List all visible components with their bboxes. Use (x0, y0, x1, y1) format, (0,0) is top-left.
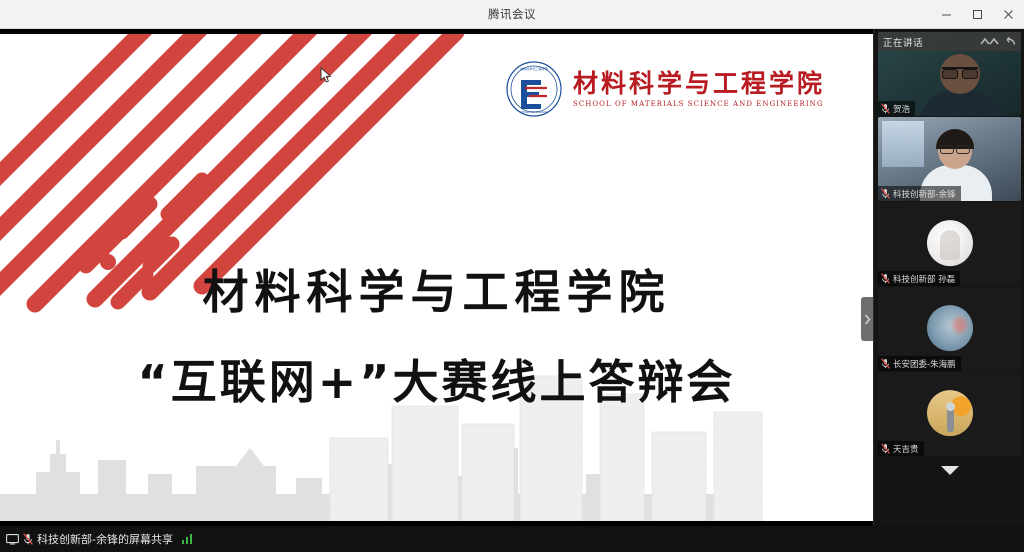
participant-name: 长安团委-朱海鹏 (893, 358, 956, 370)
participant-tile[interactable]: 科技创新部 孙磊 (878, 202, 1021, 286)
logo-english-text: SCHOOL OF MATERIALS SCIENCE AND ENGINEER… (573, 100, 825, 108)
scroll-down-button[interactable] (878, 457, 1021, 483)
minimize-icon (941, 9, 952, 20)
avatar (927, 390, 973, 436)
background-window (882, 121, 924, 167)
tencent-meeting-window: 腾讯会议 (0, 0, 1024, 552)
logo-chinese-text: 材料科学与工程学院 (573, 70, 825, 98)
window-title: 腾讯会议 (488, 6, 536, 22)
participant-nameplate: 长安团委-朱海鹏 (878, 356, 961, 371)
speaking-actions[interactable] (980, 36, 1016, 47)
college-emblem-icon: 材料科学与工程学院 MATERIALS SCIENCE (505, 60, 563, 118)
scroll-down-icon (939, 464, 961, 476)
mouse-cursor (320, 67, 332, 84)
college-logo: 材料科学与工程学院 MATERIALS SCIENCE 材料科学与工程学院 SC… (505, 60, 825, 118)
maximize-button[interactable] (962, 0, 993, 29)
window-title-bar: 腾讯会议 (0, 0, 1024, 29)
participant-name: 贺浩 (893, 103, 910, 115)
share-status-text: 科技创新部-余锋的屏幕共享 (37, 531, 173, 547)
participant-glasses (940, 145, 970, 152)
chevron-right-icon (864, 314, 871, 325)
avatar (927, 305, 973, 351)
mic-muted-icon (881, 273, 890, 284)
participant-tile[interactable]: 天吉贵 (878, 372, 1021, 456)
mic-muted-icon (881, 443, 890, 454)
speaking-indicator-bar: 正在讲话 (878, 32, 1021, 51)
participant-nameplate: 科技创新部-余锋 (878, 186, 961, 201)
mic-muted-icon (881, 103, 890, 114)
maximize-icon (972, 9, 983, 20)
sidebar-collapse-handle[interactable] (861, 297, 873, 341)
participant-glasses (942, 67, 978, 75)
participant-name: 天吉贵 (893, 443, 919, 455)
mic-muted-icon (881, 188, 890, 199)
avatar-figure-head (946, 402, 955, 411)
mic-muted-icon (881, 358, 890, 369)
participant-sidebar[interactable]: 正在讲话 (873, 29, 1024, 526)
window-controls (931, 0, 1024, 29)
undo-arrow-icon (1005, 36, 1016, 47)
participant-name: 科技创新部 孙磊 (893, 273, 955, 285)
svg-text:材料科学与工程学院: 材料科学与工程学院 (520, 66, 548, 71)
close-icon (1003, 9, 1014, 20)
close-button[interactable] (993, 0, 1024, 29)
participant-tile[interactable]: 科技创新部-余锋 (878, 117, 1021, 201)
participant-tile[interactable]: 长安团委-朱海鹏 (878, 287, 1021, 371)
participant-nameplate: 贺浩 (878, 101, 915, 116)
network-quality-icon (182, 534, 193, 544)
avatar (927, 220, 973, 266)
participant-nameplate: 天吉贵 (878, 441, 924, 456)
double-chevron-up-icon (980, 36, 1000, 47)
slide-title-line-2: “互联网+”大赛线上答辩会 (0, 346, 873, 412)
slide-title-line-1: 材料科学与工程学院 (0, 256, 873, 322)
speaking-label: 正在讲话 (883, 35, 923, 49)
participant-name: 科技创新部-余锋 (893, 188, 956, 200)
mic-muted-icon (23, 533, 33, 545)
presentation-slide: 材料科学与工程学院 MATERIALS SCIENCE 材料科学与工程学院 SC… (0, 34, 873, 521)
participant-nameplate: 科技创新部 孙磊 (878, 271, 960, 286)
svg-text:MATERIALS SCIENCE: MATERIALS SCIENCE (521, 110, 548, 114)
cursor-arrow-icon (320, 67, 332, 84)
screen-share-status-bar: 科技创新部-余锋的屏幕共享 (0, 526, 1024, 552)
screen-share-icon (6, 534, 19, 545)
shared-screen-stage[interactable]: 材料科学与工程学院 MATERIALS SCIENCE 材料科学与工程学院 SC… (0, 29, 873, 526)
participant-tile[interactable]: 正在讲话 (878, 32, 1021, 116)
share-status-group: 科技创新部-余锋的屏幕共享 (6, 531, 192, 547)
minimize-button[interactable] (931, 0, 962, 29)
